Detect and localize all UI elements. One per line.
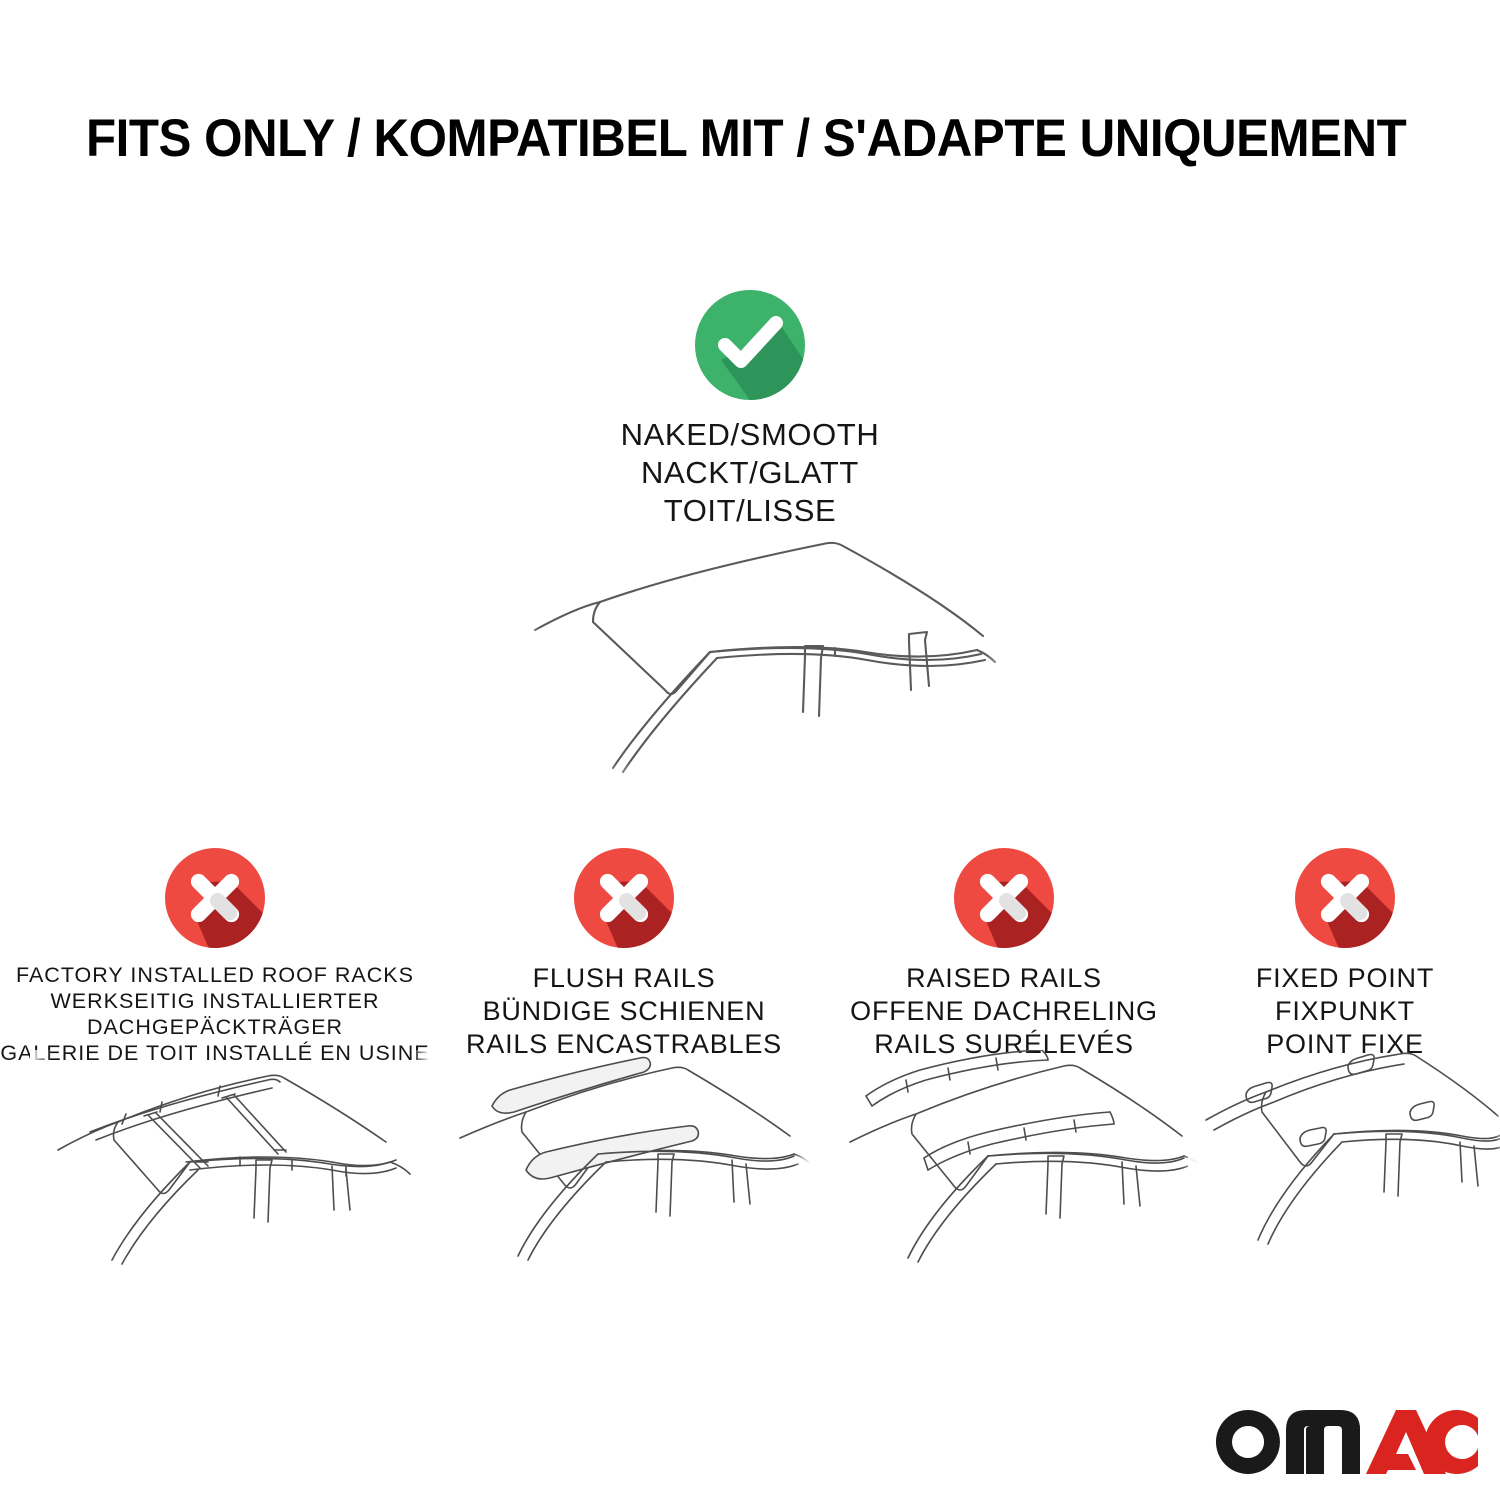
- rejected-item-flush-rails: FLUSH RAILS BÜNDIGE SCHIENEN RAILS ENCAS…: [430, 848, 818, 1066]
- omac-logo: [1210, 1404, 1478, 1482]
- rejected-label-de: OFFENE DACHRELING: [850, 995, 1158, 1028]
- roof-with-flush-rails-illustration: [440, 1050, 810, 1300]
- approved-label-fr: TOIT/LISSE: [0, 492, 1500, 530]
- rejected-label-en: FACTORY INSTALLED ROOF RACKS: [0, 962, 429, 988]
- rejected-label-de-2: DACHGEPÄCKTRÄGER: [0, 1014, 429, 1040]
- roof-with-fixed-points-illustration: [1188, 1050, 1500, 1300]
- smooth-roof-illustration: [505, 530, 1025, 800]
- approved-section: NAKED/SMOOTH NACKT/GLATT TOIT/LISSE: [0, 290, 1500, 530]
- rejected-item-fixed-point: FIXED POINT FIXPUNKT POINT FIXE: [1190, 848, 1500, 1066]
- x-circle-icon-wrap: [1295, 848, 1395, 948]
- approved-icon-wrap: [0, 290, 1500, 400]
- x-circle-icon: [1295, 848, 1395, 948]
- rejected-item-factory-installed-roof-racks: FACTORY INSTALLED ROOF RACKS WERKSEITIG …: [0, 848, 430, 1066]
- x-circle-icon: [574, 848, 674, 948]
- omac-logo-letter-m: [1286, 1410, 1360, 1474]
- omac-logo-letter-o: [1216, 1410, 1280, 1474]
- x-circle-icon-wrap: [165, 848, 265, 948]
- approved-label-block: NAKED/SMOOTH NACKT/GLATT TOIT/LISSE: [0, 416, 1500, 530]
- rejected-label-en: RAISED RAILS: [850, 962, 1158, 995]
- check-circle-icon: [695, 290, 805, 400]
- rejected-label-en: FLUSH RAILS: [466, 962, 782, 995]
- roof-with-raised-rails-illustration: [828, 1050, 1198, 1300]
- rejected-label-de: BÜNDIGE SCHIENEN: [466, 995, 782, 1028]
- rejected-label-de: FIXPUNKT: [1256, 995, 1434, 1028]
- rejected-section: FACTORY INSTALLED ROOF RACKS WERKSEITIG …: [0, 848, 1500, 1066]
- page-title: FITS ONLY / KOMPATIBEL MIT / S'ADAPTE UN…: [86, 108, 1406, 169]
- x-circle-icon: [165, 848, 265, 948]
- omac-logo-mark: [1210, 1404, 1478, 1482]
- rejected-label-en: FIXED POINT: [1256, 962, 1434, 995]
- x-circle-icon-wrap: [574, 848, 674, 948]
- rejected-label-block: RAISED RAILS OFFENE DACHRELING RAILS SUR…: [850, 962, 1158, 1061]
- rejected-item-raised-rails: RAISED RAILS OFFENE DACHRELING RAILS SUR…: [818, 848, 1190, 1066]
- x-circle-icon-wrap: [954, 848, 1054, 948]
- roof-with-rails-and-crossbars-illustration: [30, 1050, 430, 1300]
- rejected-label-block: FLUSH RAILS BÜNDIGE SCHIENEN RAILS ENCAS…: [466, 962, 782, 1061]
- approved-label-en: NAKED/SMOOTH: [0, 416, 1500, 454]
- approved-label-de: NACKT/GLATT: [0, 454, 1500, 492]
- x-circle-icon: [954, 848, 1054, 948]
- rejected-label-block: FIXED POINT FIXPUNKT POINT FIXE: [1256, 962, 1434, 1061]
- rejected-label-de-1: WERKSEITIG INSTALLIERTER: [0, 988, 429, 1014]
